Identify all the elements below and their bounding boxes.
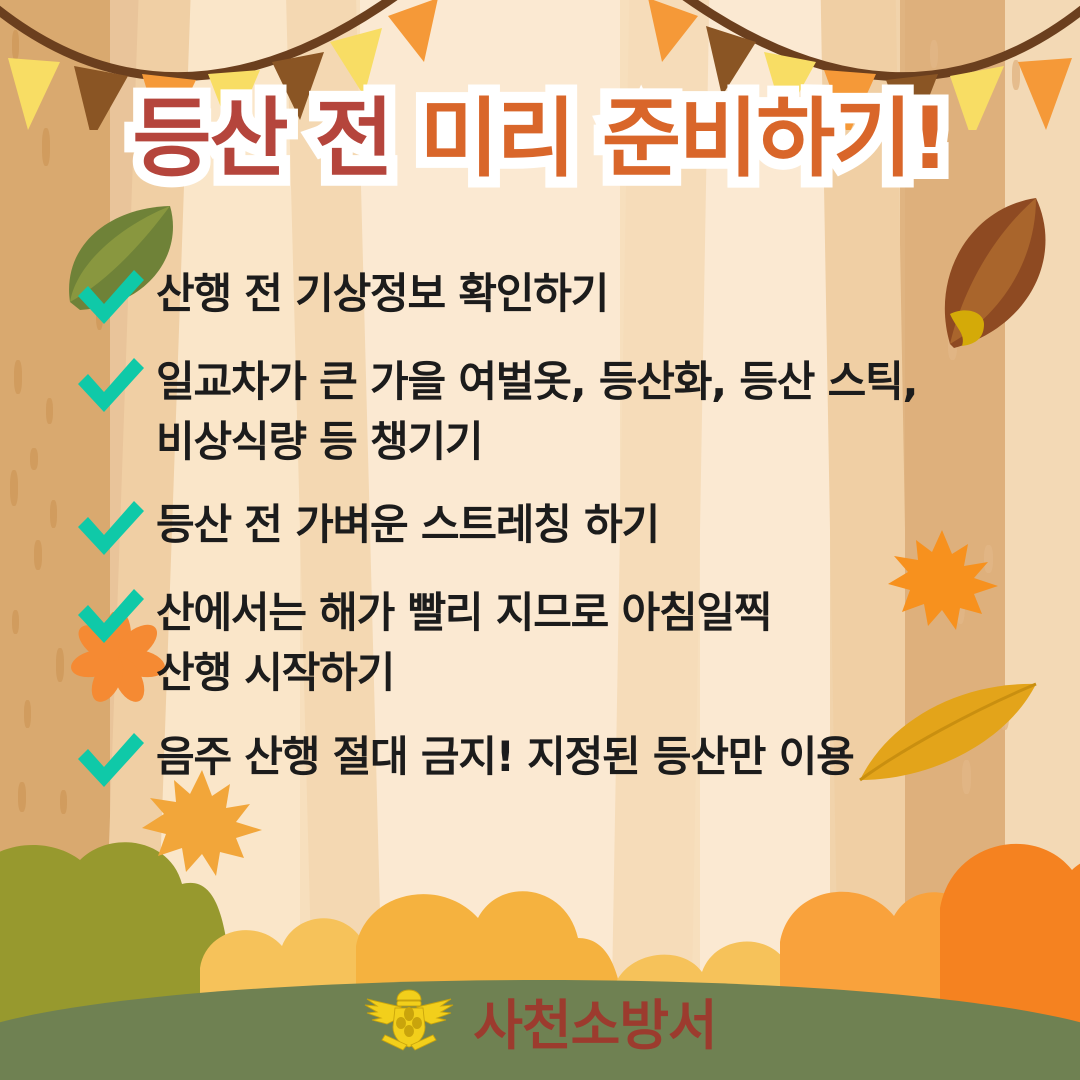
bark-mark bbox=[12, 610, 19, 634]
checkmark-icon bbox=[74, 497, 146, 559]
list-item: 음주 산행 절대 금지! 지정된 등산만 이용 bbox=[74, 725, 1034, 791]
list-item: 산에서는 해가 빨리 지므로 아침일찍 산행 시작하기 bbox=[74, 581, 1034, 702]
checkmark-icon bbox=[74, 729, 146, 791]
list-item-line: 비상식량 등 챙기기 bbox=[156, 412, 917, 472]
bark-mark bbox=[24, 700, 31, 728]
list-item-line: 음주 산행 절대 금지! 지정된 등산만 이용 bbox=[156, 727, 854, 787]
bunting-flag bbox=[648, 0, 698, 62]
bark-mark bbox=[34, 540, 42, 570]
list-item-text: 산행 전 기상정보 확인하기 bbox=[156, 262, 608, 324]
bunting-flag bbox=[330, 28, 382, 96]
bark-mark bbox=[14, 360, 22, 394]
list-item-line: 산에서는 해가 빨리 지므로 아침일찍 bbox=[156, 583, 771, 643]
checklist: 산행 전 기상정보 확인하기 일교차가 큰 가을 여벌옷, 등산화, 등산 스틱… bbox=[74, 262, 1034, 813]
checkmark-icon bbox=[74, 266, 146, 328]
list-item-text: 일교차가 큰 가을 여벌옷, 등산화, 등산 스틱, 비상식량 등 챙기기 bbox=[156, 350, 917, 471]
list-item-text: 음주 산행 절대 금지! 지정된 등산만 이용 bbox=[156, 725, 854, 787]
title-segment-primary: 등산 전 bbox=[132, 89, 419, 189]
list-item-line: 산행 시작하기 bbox=[156, 643, 771, 703]
list-item-line: 산행 전 기상정보 확인하기 bbox=[156, 264, 608, 324]
list-item: 일교차가 큰 가을 여벌옷, 등산화, 등산 스틱, 비상식량 등 챙기기 bbox=[74, 350, 1034, 471]
bark-mark bbox=[10, 470, 18, 506]
checkmark-icon bbox=[74, 585, 146, 647]
bunting-flag bbox=[388, 0, 438, 62]
list-item: 산행 전 기상정보 확인하기 bbox=[74, 262, 1034, 328]
list-item-text: 산에서는 해가 빨리 지므로 아침일찍 산행 시작하기 bbox=[156, 581, 771, 702]
checkmark-icon bbox=[74, 354, 146, 416]
title-segment-accent: 미리 준비하기! bbox=[420, 89, 948, 189]
footer-bar: 사천소방서 bbox=[0, 960, 1080, 1080]
bark-mark bbox=[56, 648, 64, 682]
list-item-line: 등산 전 가벼운 스트레칭 하기 bbox=[156, 495, 659, 555]
bark-mark bbox=[50, 500, 57, 528]
organization-name: 사천소방서 bbox=[473, 981, 716, 1060]
bark-mark bbox=[30, 448, 38, 470]
list-item-text: 등산 전 가벼운 스트레칭 하기 bbox=[156, 493, 659, 555]
bark-mark bbox=[46, 398, 53, 424]
fire-service-eagle-emblem-icon bbox=[363, 987, 455, 1053]
poster-title: 등산 전 미리 준비하기! bbox=[0, 96, 1080, 184]
list-item-line: 일교차가 큰 가을 여벌옷, 등산화, 등산 스틱, bbox=[156, 352, 917, 412]
list-item: 등산 전 가벼운 스트레칭 하기 bbox=[74, 493, 1034, 559]
poster-canvas: 등산 전 미리 준비하기! 산행 전 기상정보 확인하기 일교차가 큰 가을 여… bbox=[0, 0, 1080, 1080]
